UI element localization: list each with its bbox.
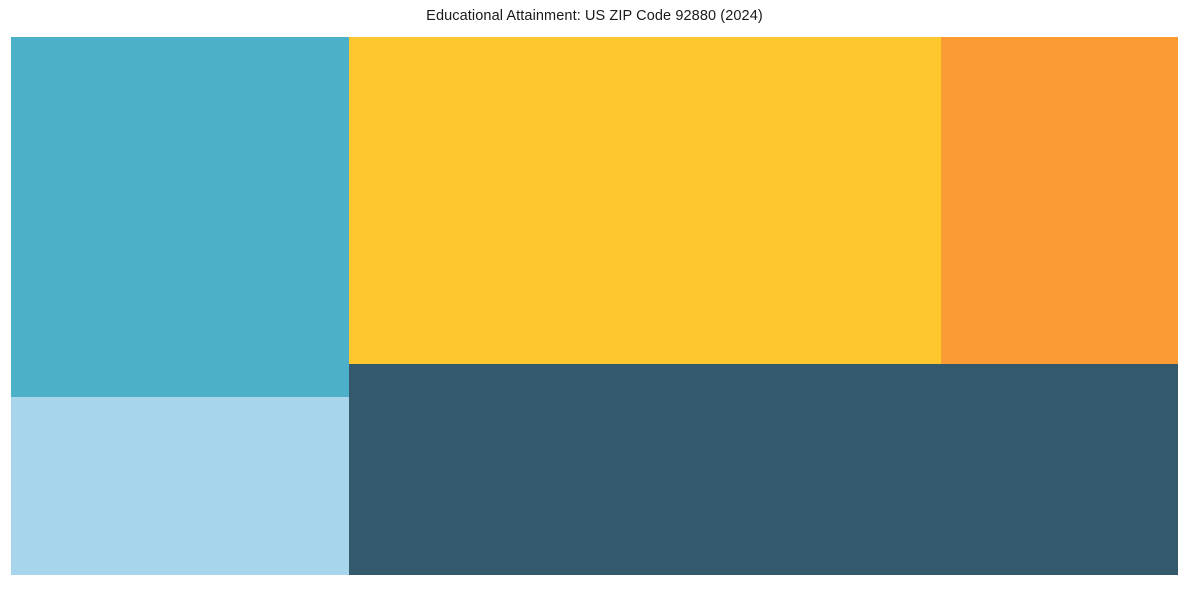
- treemap-tile-bachelors-degree[interactable]: Bachelor's degree: [349, 37, 941, 364]
- treemap-tile-high-school-graduate[interactable]: High school graduate: [11, 37, 349, 397]
- treemap-tile-some-college-or-associates[interactable]: Some college or associate's degree: [349, 364, 1178, 575]
- treemap-tile-less-than-high-school[interactable]: Less than high school: [11, 397, 349, 575]
- chart-title: Educational Attainment: US ZIP Code 9288…: [0, 7, 1189, 25]
- treemap-plot-area: High school graduate Less than high scho…: [11, 37, 1178, 575]
- treemap-tile-graduate-or-professional-degree[interactable]: Graduate or professional degree: [941, 37, 1178, 364]
- treemap-figure: Educational Attainment: US ZIP Code 9288…: [0, 0, 1189, 590]
